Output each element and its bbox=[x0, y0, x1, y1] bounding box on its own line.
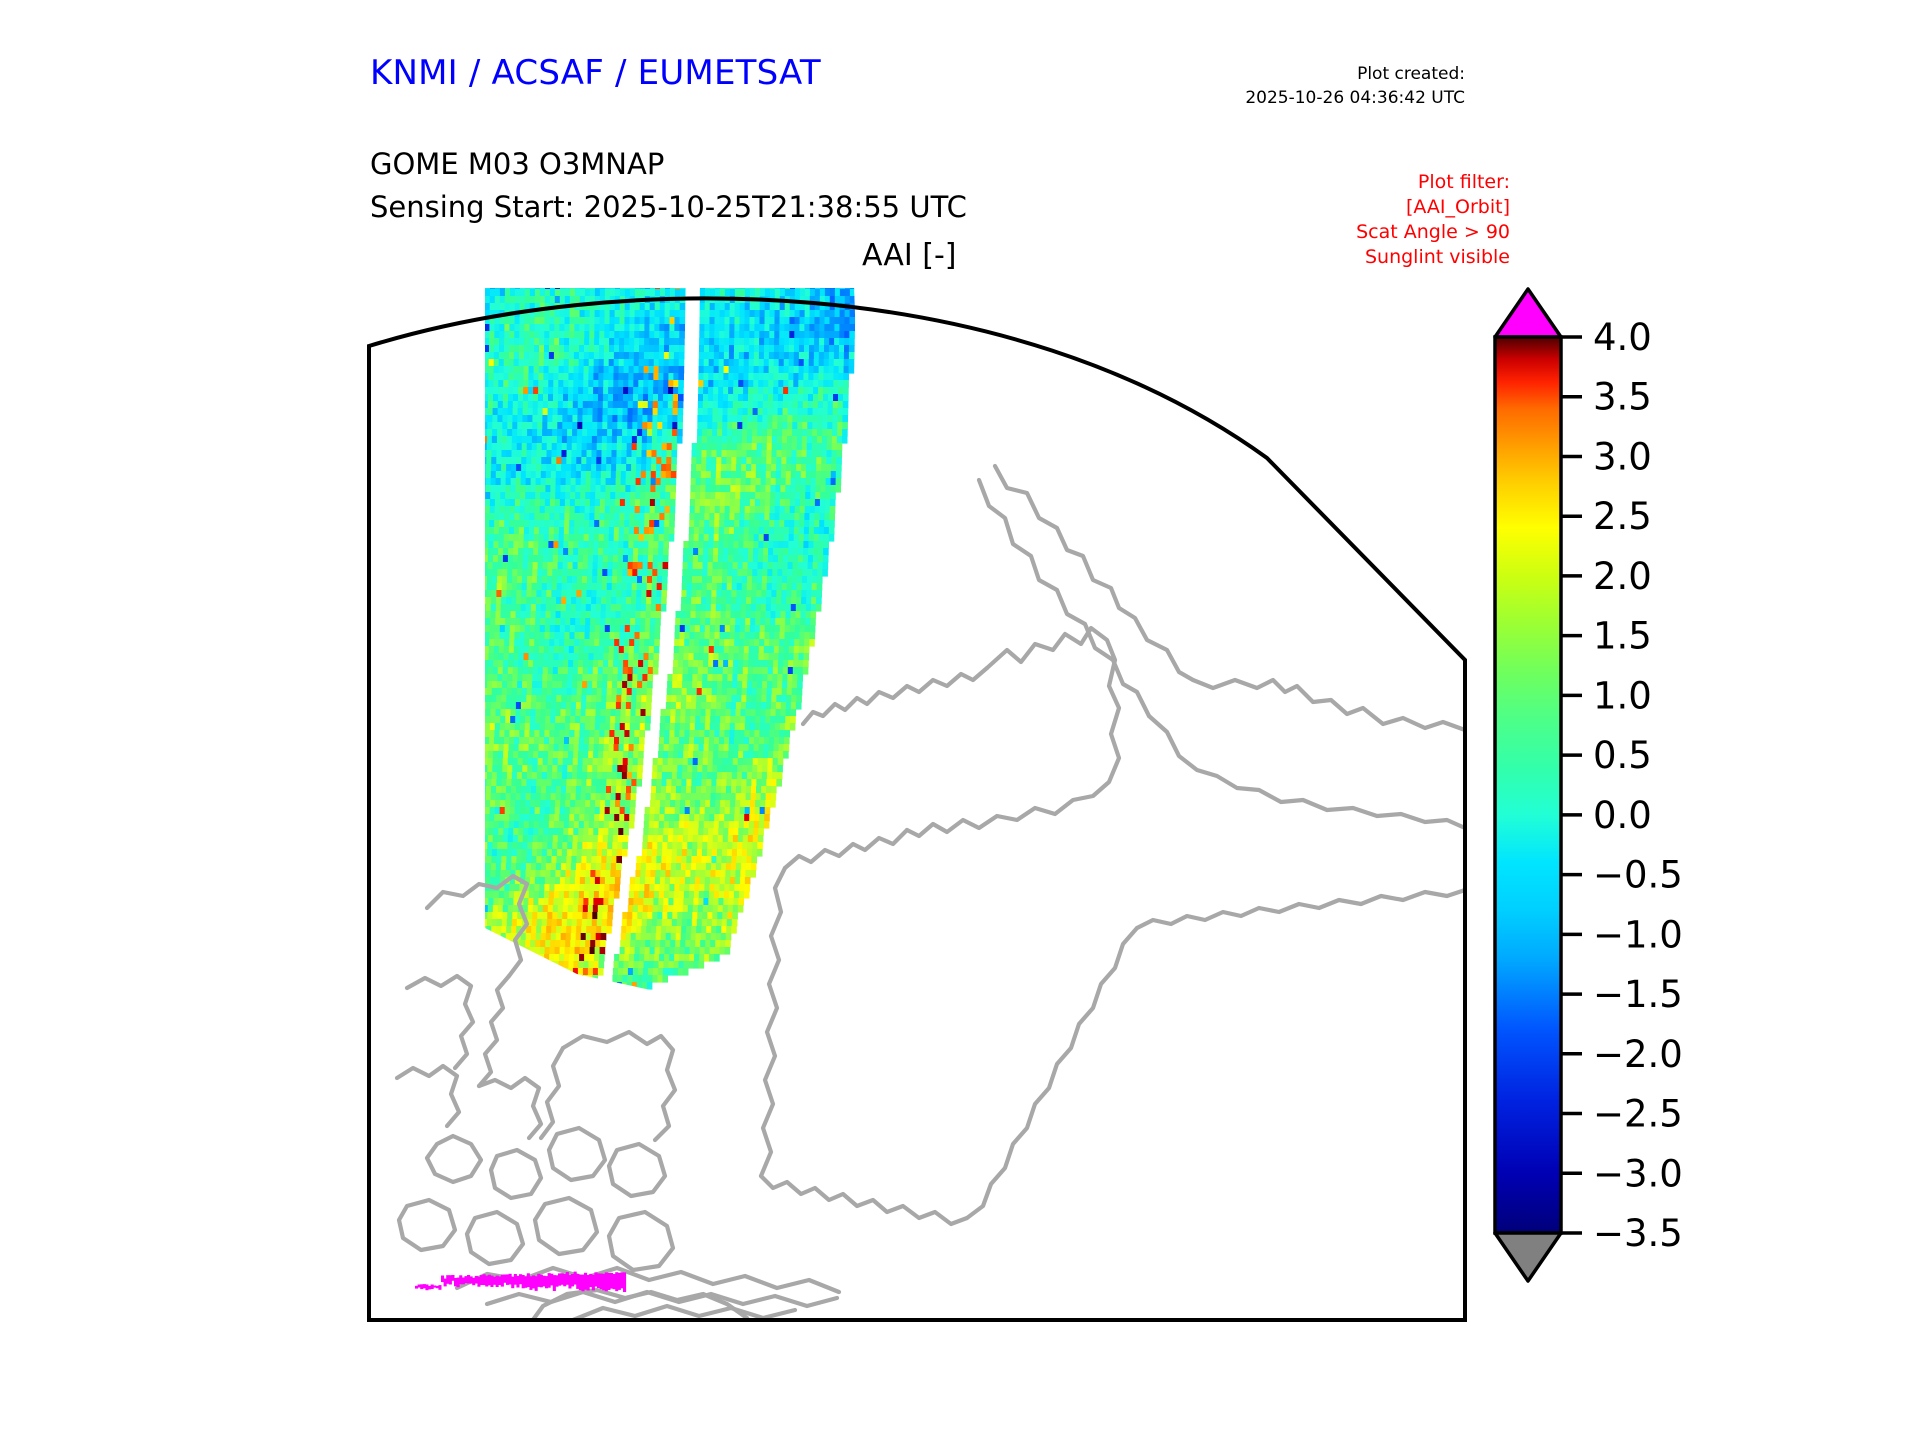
colorbar-tick-label: −2.0 bbox=[1593, 1033, 1683, 1076]
plot-filter-sunglint: Sunglint visible bbox=[1356, 245, 1510, 270]
colorbar-tick-label: 1.0 bbox=[1593, 674, 1652, 717]
sensing-start: Sensing Start: 2025-10-25T21:38:55 UTC bbox=[370, 186, 967, 229]
org-title: KNMI / ACSAF / EUMETSAT bbox=[370, 53, 821, 93]
colorbar-tick-label: 3.0 bbox=[1593, 435, 1652, 478]
plot-created-block: Plot created: 2025-10-26 04:36:42 UTC bbox=[1245, 62, 1465, 110]
product-info-block: GOME M03 O3MNAP Sensing Start: 2025-10-2… bbox=[370, 143, 967, 229]
colorbar-tick-label: 0.0 bbox=[1593, 794, 1652, 837]
colorbar-tick-label: 4.0 bbox=[1593, 316, 1652, 359]
colorbar-over-arrow bbox=[1495, 289, 1561, 337]
colorbar-tick-label: 2.5 bbox=[1593, 495, 1652, 538]
plot-created-value: 2025-10-26 04:36:42 UTC bbox=[1245, 86, 1465, 110]
colorbar-tick-label: −3.0 bbox=[1593, 1152, 1683, 1195]
page-title: AAI [-] bbox=[862, 238, 957, 273]
colorbar-tick-label: 2.0 bbox=[1593, 555, 1652, 598]
colorbar-gradient bbox=[1495, 337, 1561, 1233]
colorbar-under-arrow bbox=[1495, 1233, 1561, 1281]
colorbar-tick-label: 0.5 bbox=[1593, 734, 1652, 777]
colorbar-tick-label: −0.5 bbox=[1593, 854, 1683, 897]
colorbar-tick-label: −3.5 bbox=[1593, 1212, 1683, 1255]
plot-filter-name: [AAI_Orbit] bbox=[1356, 195, 1510, 220]
colorbar-tick-label: −1.5 bbox=[1593, 973, 1683, 1016]
colorbar-tick-label: −1.0 bbox=[1593, 913, 1683, 956]
map-panel[interactable] bbox=[367, 288, 1467, 1322]
colorbar-tick-label: −2.5 bbox=[1593, 1093, 1683, 1136]
plot-filter-label: Plot filter: bbox=[1356, 170, 1510, 195]
colorbar[interactable]: 4.03.53.02.52.01.51.00.50.0−0.5−1.0−1.5−… bbox=[1487, 285, 1787, 1325]
product-name: GOME M03 O3MNAP bbox=[370, 143, 967, 186]
plot-filter-scat-angle: Scat Angle > 90 bbox=[1356, 220, 1510, 245]
plot-filter-block: Plot filter: [AAI_Orbit] Scat Angle > 90… bbox=[1356, 170, 1510, 270]
colorbar-tick-label: 1.5 bbox=[1593, 615, 1652, 658]
plot-created-label: Plot created: bbox=[1245, 62, 1465, 86]
colorbar-ticks: 4.03.53.02.52.01.51.00.50.0−0.5−1.0−1.5−… bbox=[1561, 316, 1683, 1255]
colorbar-tick-label: 3.5 bbox=[1593, 376, 1652, 419]
